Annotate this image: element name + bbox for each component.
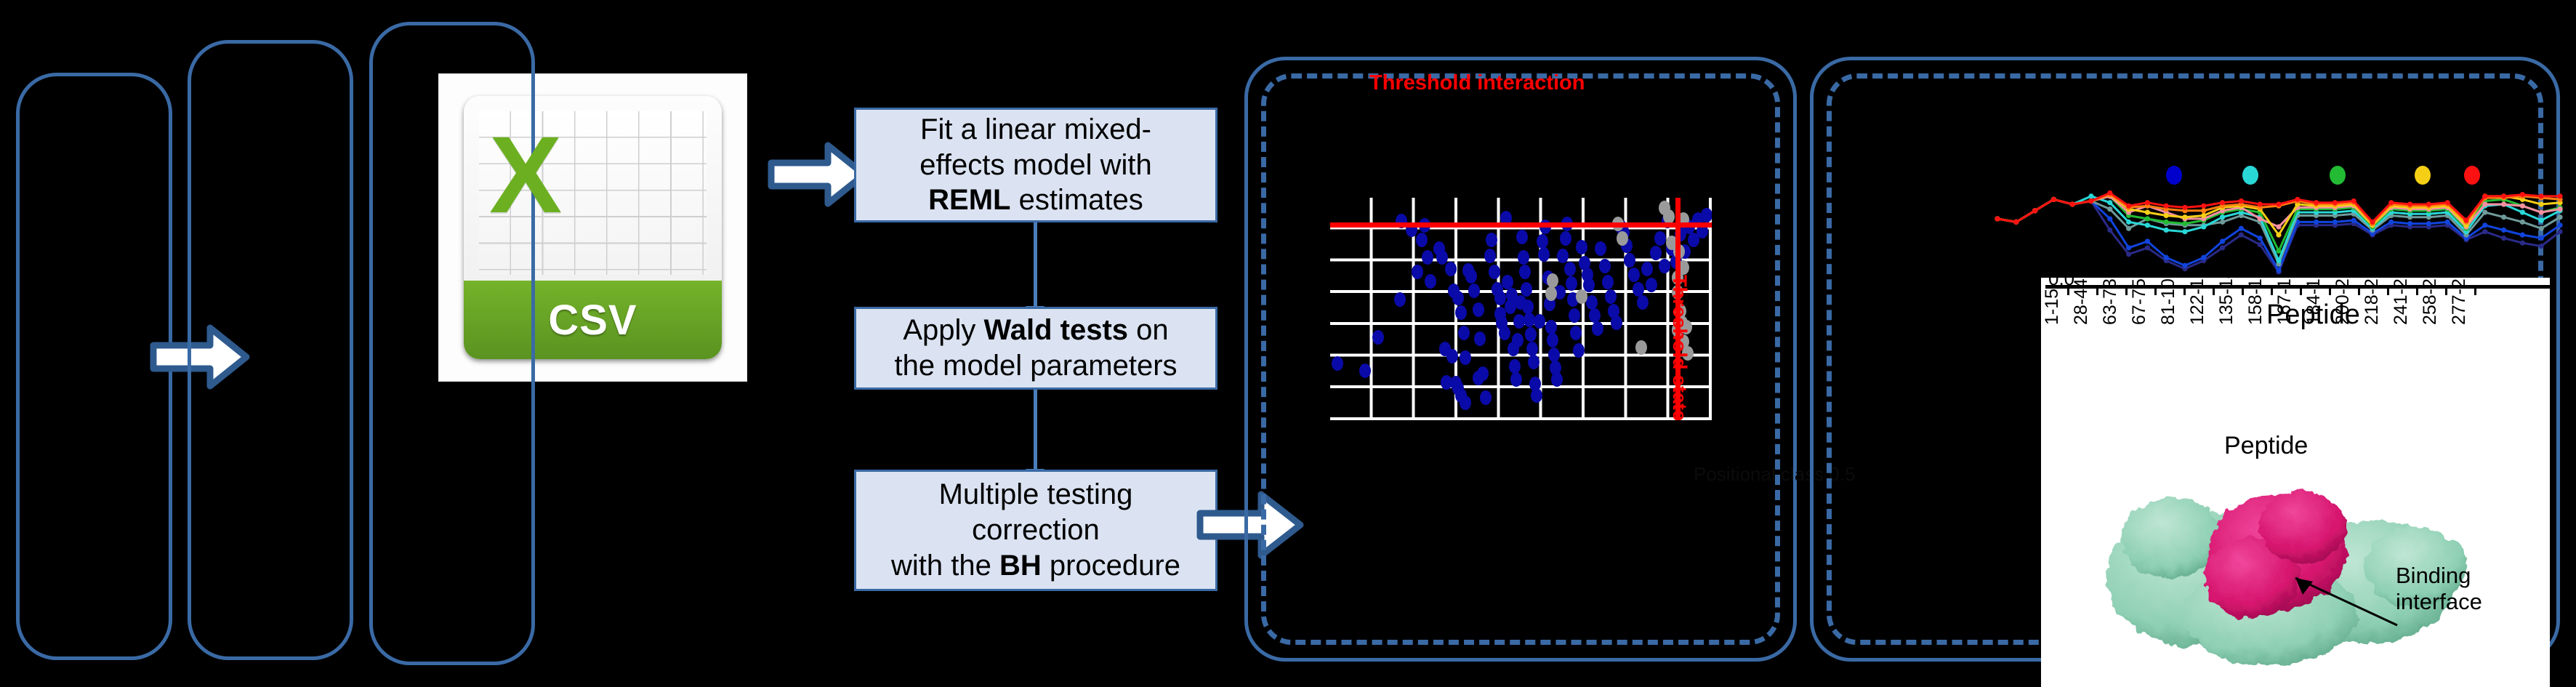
line-point <box>2201 213 2206 218</box>
line-point <box>2145 222 2150 228</box>
line-point <box>2107 200 2112 205</box>
wald-tests-box[interactable]: Apply Wald tests on the model parameters <box>854 307 1217 390</box>
line-point <box>2557 193 2562 198</box>
line-point <box>2182 214 2187 220</box>
line-point <box>2145 245 2150 250</box>
line-point <box>2182 263 2187 268</box>
line-point <box>2482 229 2487 234</box>
line-point <box>2126 245 2131 250</box>
line-point <box>2107 228 2112 233</box>
line-point <box>2126 252 2131 257</box>
line-point <box>2407 221 2412 226</box>
line-point <box>2126 204 2131 209</box>
legend-dot-red <box>2464 166 2480 185</box>
line-point <box>2051 197 2056 202</box>
line-point <box>2276 224 2281 229</box>
line-point <box>2258 216 2263 221</box>
line-point <box>2557 229 2562 234</box>
line-point <box>2501 236 2506 241</box>
excel-x-glyph: X <box>471 101 579 249</box>
line-point <box>2220 220 2225 225</box>
line-point <box>2295 197 2300 202</box>
line-point <box>2107 216 2112 221</box>
line-point <box>2445 200 2450 205</box>
line-point <box>2314 220 2319 225</box>
line-point <box>2501 228 2506 233</box>
legend-dot-green <box>2330 166 2346 185</box>
data-panel <box>188 40 353 660</box>
line-point <box>2520 204 2525 209</box>
line-point <box>2520 233 2525 238</box>
line-point <box>2258 236 2263 241</box>
line-point <box>2201 224 2206 229</box>
multiple-testing-box[interactable]: Multiple testing correction with the BH … <box>854 470 1217 591</box>
line-point <box>2032 208 2037 213</box>
line-point <box>2482 209 2487 214</box>
line-point <box>2501 214 2506 220</box>
fit-model-box[interactable]: Fit a linear mixed- effects model with R… <box>854 108 1217 222</box>
line-point <box>2088 198 2093 204</box>
connector-fit-to-wald <box>1034 222 1037 307</box>
x-axis-title: Peptide <box>2224 432 2308 460</box>
legend-dot-blue <box>2166 166 2182 185</box>
line-point <box>2539 201 2544 206</box>
connector-wald-to-bh <box>1034 390 1037 470</box>
line-point <box>2145 200 2150 205</box>
line-point <box>2070 201 2075 206</box>
line-point <box>2220 245 2225 250</box>
x-tick-label: 241-257 <box>2391 278 2412 325</box>
line-point <box>2258 201 2263 206</box>
x-tick-label: 218-237 <box>2362 278 2383 325</box>
line-point <box>2220 238 2225 244</box>
line-point <box>2013 220 2018 225</box>
line-point <box>2145 238 2150 244</box>
x-tick-label: 122-129 <box>2187 278 2208 325</box>
line-point <box>2107 206 2112 212</box>
line-point <box>2088 193 2093 198</box>
x-tick-label: 277-284 <box>2449 278 2470 325</box>
line-point <box>2239 233 2244 238</box>
line-point <box>2501 201 2506 206</box>
line-point <box>2557 214 2562 220</box>
line-point <box>2539 236 2544 241</box>
line-point <box>2164 204 2169 209</box>
fit-model-box-text: Fit a linear mixed- effects model with R… <box>919 112 1151 218</box>
line-point <box>2201 208 2206 213</box>
scatter-plot-area <box>1330 198 1712 420</box>
csv-label-text: CSV <box>548 296 637 345</box>
line-point <box>2182 229 2187 234</box>
line-point <box>2276 268 2281 273</box>
line-point <box>2482 193 2487 198</box>
binding-interface-label: Binding interface <box>2396 563 2482 614</box>
line-point <box>2557 222 2562 228</box>
line-point <box>2220 200 2225 205</box>
line-chart-svg <box>1992 185 2566 280</box>
line-point <box>2482 201 2487 206</box>
x-tick-label: 81-101 <box>2158 278 2179 325</box>
line-point <box>2539 209 2544 214</box>
peptide-label: Peptide <box>2266 300 2360 332</box>
line-point <box>2539 218 2544 223</box>
line-point <box>2407 201 2412 206</box>
line-point <box>2182 205 2187 210</box>
x-tick-label: 1-15 <box>2042 289 2063 325</box>
x-tick-label: 135-144 <box>2216 278 2237 325</box>
x-tick-label: 67-75 <box>2129 278 2150 325</box>
line-point <box>2520 241 2525 246</box>
legend-dot-yellow <box>2415 166 2431 185</box>
line-point <box>2426 201 2431 206</box>
line-point <box>2501 193 2506 198</box>
line-point <box>2164 255 2169 260</box>
line-point <box>2520 220 2525 225</box>
structure-card: 1-1528-4463-7367-7581-101122-129135-1441… <box>2041 278 2550 687</box>
x-tick-label: 158-166 <box>2245 278 2266 325</box>
line-point <box>2126 226 2131 231</box>
line-point <box>2220 214 2225 220</box>
line-point <box>2276 258 2281 263</box>
line-point <box>2276 201 2281 206</box>
multiple-testing-box-text: Multiple testing correction with the BH … <box>891 477 1180 583</box>
x-tick-label: 63-73 <box>2100 278 2121 325</box>
line-point <box>2107 190 2112 196</box>
line-point <box>2239 198 2244 204</box>
line-point <box>2557 206 2562 212</box>
line-point <box>2445 220 2450 225</box>
line-point <box>2276 249 2281 254</box>
line-point <box>2539 226 2544 231</box>
line-point <box>2314 200 2319 205</box>
line-point <box>2463 218 2468 223</box>
line-point <box>2239 226 2244 231</box>
peptide-line-chart <box>1992 185 2566 280</box>
line-point <box>2426 221 2431 226</box>
line-point <box>2520 192 2525 197</box>
line-point <box>2145 209 2150 214</box>
line-point <box>2370 220 2375 225</box>
line-point <box>2351 198 2356 204</box>
line-point <box>2164 220 2169 225</box>
line-point <box>2164 228 2169 233</box>
line-point <box>2333 220 2338 225</box>
line-point <box>2520 209 2525 214</box>
y-tick-label-zero: 0.0 <box>2048 268 2074 290</box>
figure-canvas: X CSV Fit a linear mixed- effects model … <box>0 0 2576 687</box>
line-point <box>2388 200 2394 205</box>
line-point <box>2539 244 2544 249</box>
line-point <box>2482 222 2487 228</box>
line-point <box>2388 220 2394 225</box>
threshold-interaction-label: Threshold interaction <box>1369 71 1585 95</box>
line-point <box>2201 255 2206 260</box>
line-point <box>2126 220 2131 225</box>
line-point <box>2145 216 2150 221</box>
x-tick-label: 258-266 <box>2420 278 2441 325</box>
line-point <box>2182 221 2187 226</box>
arrow-data-to-analysis <box>767 140 869 209</box>
line-point <box>1995 216 2000 221</box>
line-point <box>2276 233 2281 238</box>
line-point <box>2164 213 2169 218</box>
wald-tests-box-text: Apply Wald tests on the model parameters <box>894 313 1177 384</box>
line-point <box>2333 200 2338 205</box>
threshold-state-label: Threshold state <box>1668 275 1691 421</box>
legend-dot-cyan <box>2242 166 2258 185</box>
line-point <box>2539 193 2544 198</box>
line-point <box>2351 218 2356 223</box>
line-point <box>2201 204 2206 209</box>
threshold-interaction-line <box>1330 222 1712 228</box>
